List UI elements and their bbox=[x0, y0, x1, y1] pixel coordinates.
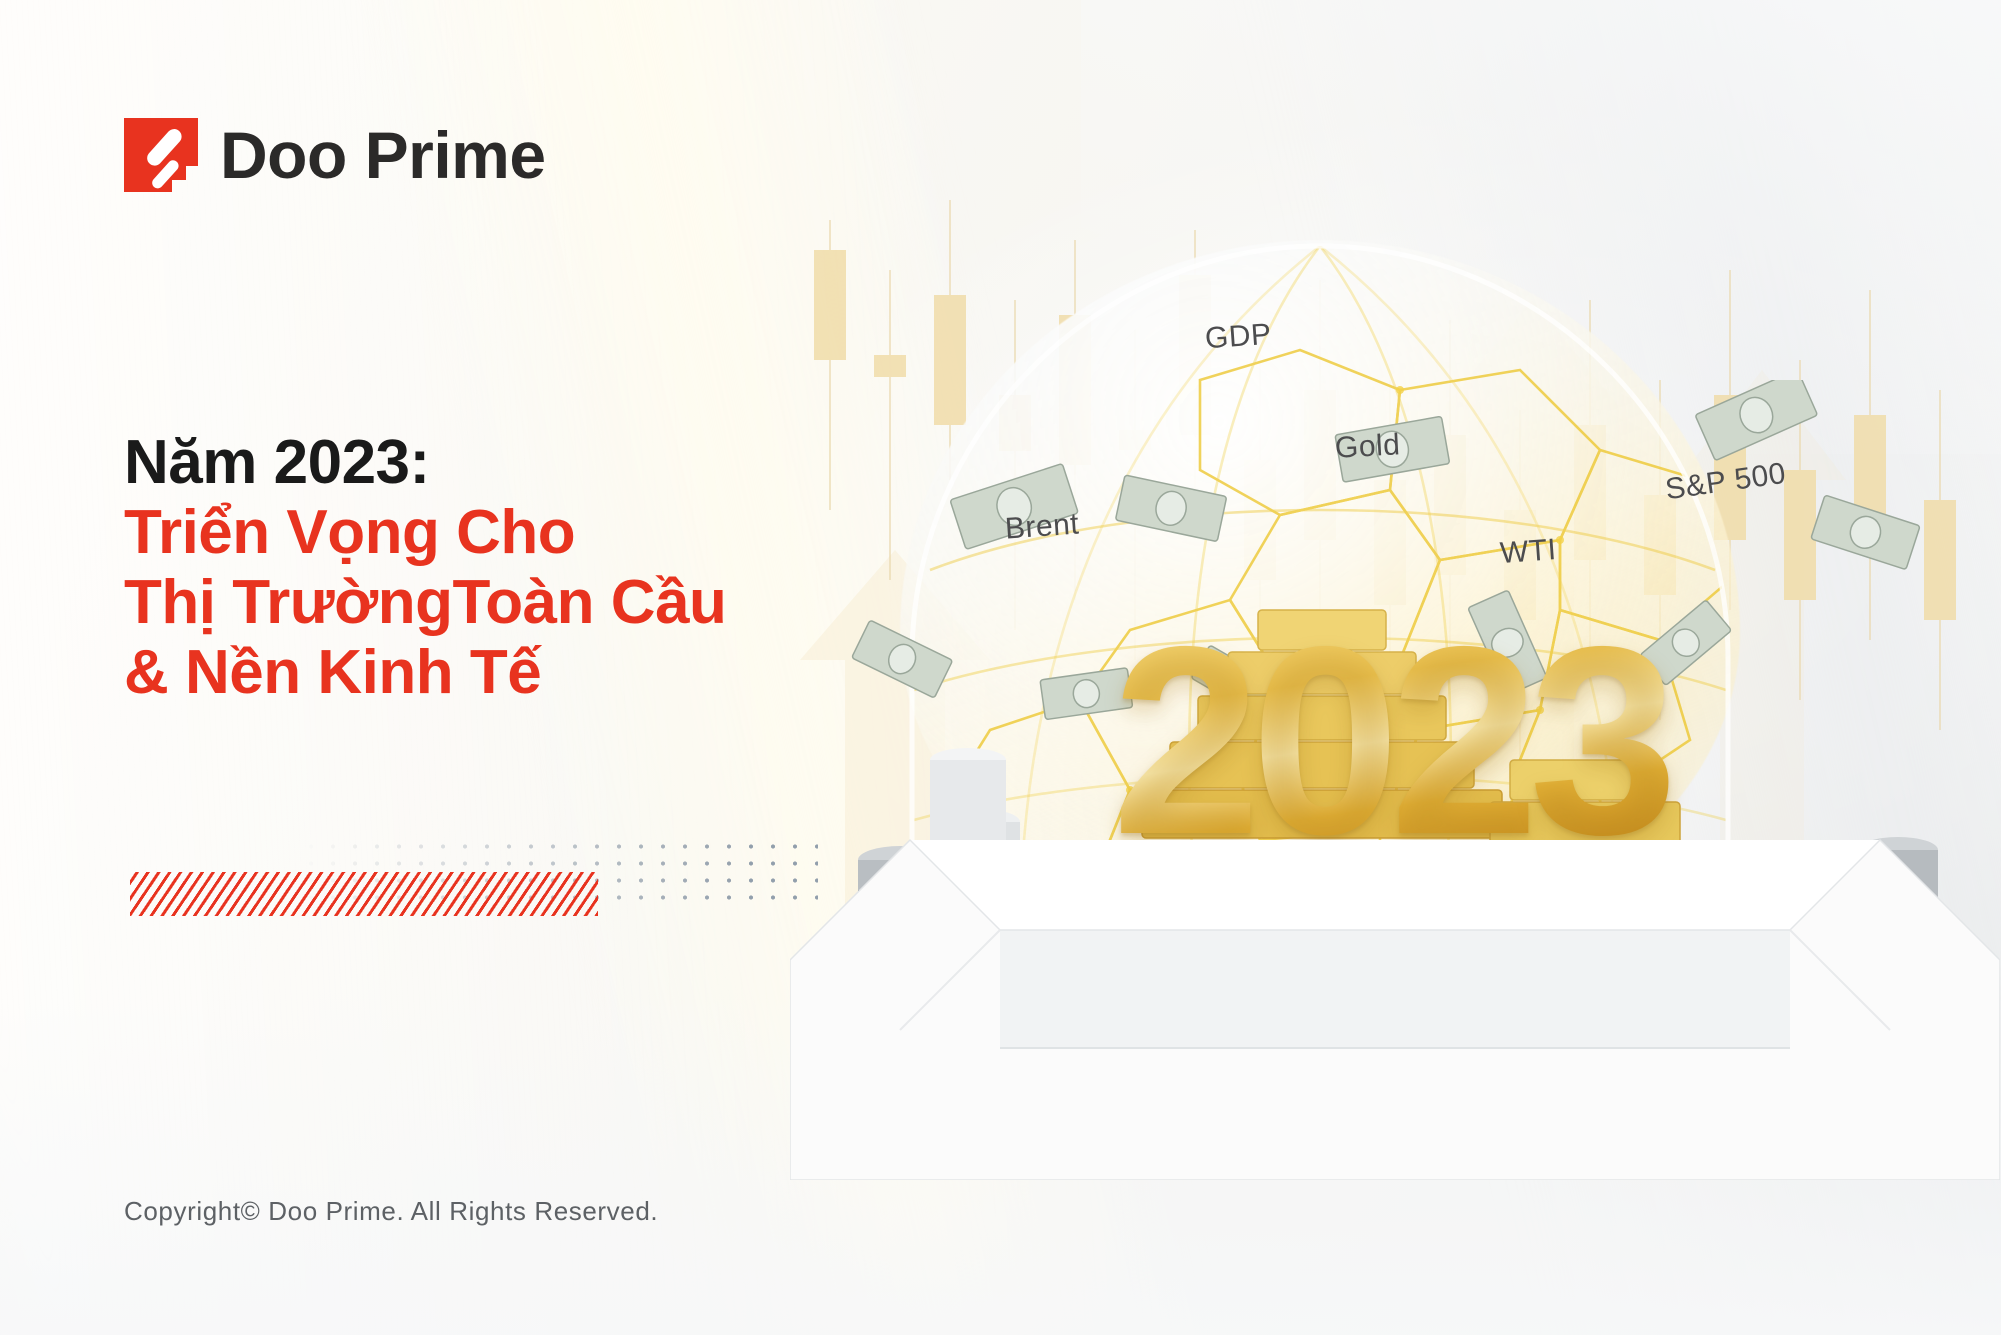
brand-logo[interactable]: Doo Prime bbox=[124, 118, 546, 192]
brand-wordmark: Doo Prime bbox=[220, 122, 546, 188]
headline-line-1: Năm 2023: bbox=[124, 428, 884, 498]
hero-label-wti: WTI bbox=[1499, 533, 1558, 571]
doo-prime-mark-icon bbox=[124, 118, 198, 192]
hero-label-gdp: GDP bbox=[1204, 318, 1273, 357]
copyright-notice: Copyright© Doo Prime. All Rights Reserve… bbox=[124, 1196, 658, 1227]
hero-label-gold: Gold bbox=[1334, 428, 1401, 465]
headline-line-3: Thị TrườngToàn Cầu bbox=[124, 568, 884, 638]
podium-platform-graphic bbox=[790, 780, 2000, 1180]
decorative-accent bbox=[130, 826, 830, 936]
page-title: Năm 2023: Triển Vọng Cho Thị TrườngToàn … bbox=[124, 428, 884, 708]
poster-canvas: Doo Prime bbox=[0, 0, 2001, 1335]
hero-illustration: 2023 GDP Gold S&P 500 Brent WTI bbox=[790, 180, 2000, 1180]
headline-line-2: Triển Vọng Cho bbox=[124, 498, 884, 568]
headline-line-4: & Nền Kinh Tế bbox=[124, 638, 884, 708]
hero-label-brent: Brent bbox=[1004, 507, 1080, 546]
diagonal-stripe-bar bbox=[130, 872, 598, 916]
